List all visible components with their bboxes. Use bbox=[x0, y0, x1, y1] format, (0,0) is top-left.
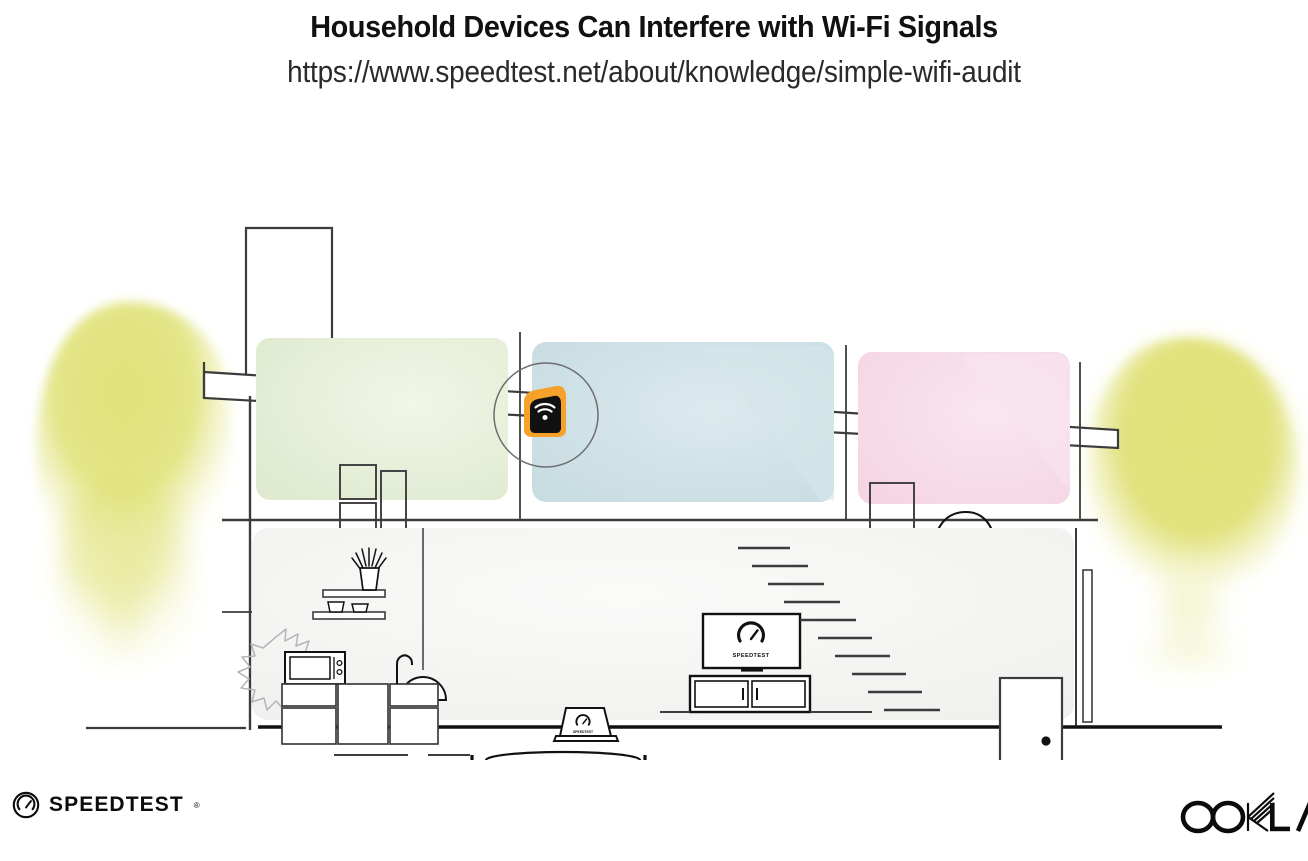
microwave bbox=[285, 652, 345, 684]
page-title: Household Devices Can Interfere with Wi-… bbox=[46, 8, 1262, 47]
front-door[interactable] bbox=[1000, 678, 1062, 760]
footer: SPEEDTEST ® bbox=[0, 769, 1308, 861]
house-cutaway-illustration: SPEEDTEST bbox=[0, 100, 1308, 760]
room-pink-nursery bbox=[858, 352, 1070, 504]
wifi-router[interactable] bbox=[524, 386, 566, 437]
room-blue-bedroom bbox=[532, 342, 834, 502]
foliage-right bbox=[1082, 338, 1302, 678]
header: Household Devices Can Interfere with Wi-… bbox=[0, 0, 1308, 92]
speedtest-gauge-icon bbox=[12, 791, 40, 819]
speedtest-trademark-mark: ® bbox=[194, 801, 200, 810]
television: SPEEDTEST bbox=[703, 614, 800, 672]
door-knob-icon[interactable] bbox=[1041, 736, 1050, 745]
ookla-logo[interactable]: ® bbox=[1174, 789, 1308, 841]
dining-table bbox=[486, 752, 640, 760]
media-console bbox=[690, 676, 810, 712]
ookla-wordmark-icon: ® bbox=[1174, 789, 1308, 841]
tv-screen-label: SPEEDTEST bbox=[733, 653, 770, 659]
speedtest-logo[interactable]: SPEEDTEST ® bbox=[12, 791, 200, 819]
laptop-screen-label: SPEEDTEST bbox=[573, 730, 594, 734]
foliage-left bbox=[36, 302, 233, 670]
illustration-page: Household Devices Can Interfere with Wi-… bbox=[0, 0, 1308, 861]
room-green-bedroom bbox=[256, 338, 508, 500]
source-url: https://www.speedtest.net/about/knowledg… bbox=[65, 53, 1242, 92]
kitchen-counters bbox=[282, 684, 438, 744]
speedtest-wordmark: SPEEDTEST bbox=[49, 793, 184, 817]
